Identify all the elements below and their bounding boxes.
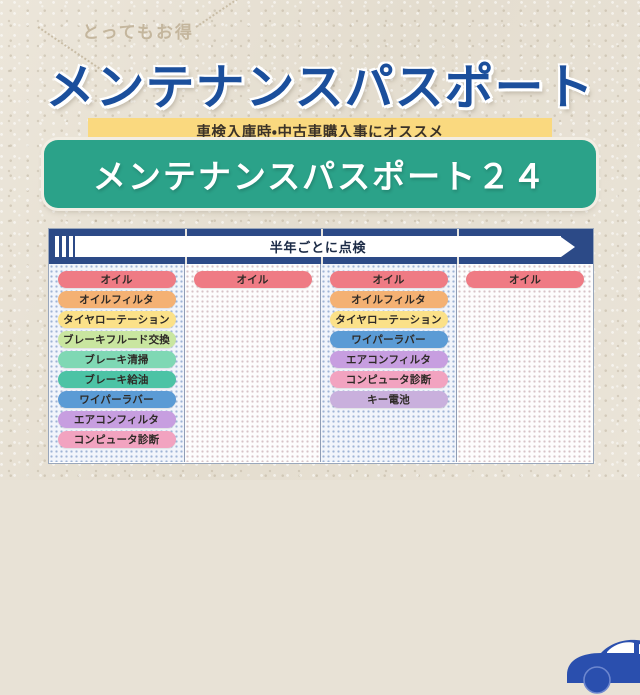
inspection-interval-label: 半年ごとに点検 (270, 237, 367, 256)
arrow-bar (55, 236, 59, 257)
plan-column-1: オイルオイルフィルタタイヤローテーションブレーキフルード交換ブレーキ清掃ブレーキ… (49, 264, 185, 462)
service-item-pill: オイルフィルタ (58, 291, 176, 308)
product-name-bar: メンテナンスパスポート２４ (44, 140, 596, 208)
service-item-pill: ワイパーラバー (330, 331, 448, 348)
service-item-pill: ブレーキフルード交換 (58, 331, 176, 348)
service-item-pill: オイル (330, 271, 448, 288)
service-item-pill: キー電池 (330, 391, 448, 408)
service-item-pill: タイヤローテーション (330, 311, 448, 328)
arrow-bar (62, 236, 66, 257)
arrow-right-icon (561, 237, 575, 257)
car-icon (561, 625, 640, 695)
service-item-pill: オイル (466, 271, 584, 288)
service-item-list: オイルオイルフィルタタイヤローテーションワイパーラバーエアコンフィルタコンピュー… (321, 271, 456, 408)
plan-column-2: オイル (185, 264, 321, 462)
service-item-pill: コンピュータ診断 (330, 371, 448, 388)
service-item-pill: オイル (194, 271, 312, 288)
service-item-pill: オイルフィルタ (330, 291, 448, 308)
service-item-list: オイル (457, 271, 593, 288)
arrow-bars-decoration (55, 236, 73, 257)
service-item-pill: ブレーキ清掃 (58, 351, 176, 368)
service-item-pill: ワイパーラバー (58, 391, 176, 408)
page-title: メンテナンスパスポート (0, 48, 640, 119)
service-item-pill: コンピュータ診断 (58, 431, 176, 448)
service-item-pill: エアコンフィルタ (330, 351, 448, 368)
arrow-body: 半年ごとに点検 (75, 236, 561, 257)
service-item-list: オイル (185, 271, 320, 288)
service-item-pill: タイヤローテーション (58, 311, 176, 328)
plan-comparison-table: 半年ごとに点検 オイルオイルフィルタタイヤローテーションブレーキフルード交換ブレ… (48, 228, 594, 464)
tagline-row: とってもお得 (0, 10, 640, 50)
table-header-band: 半年ごとに点検 (49, 229, 593, 264)
service-item-list: オイルオイルフィルタタイヤローテーションブレーキフルード交換ブレーキ清掃ブレーキ… (49, 271, 184, 448)
inspection-interval-banner: 半年ごとに点検 (55, 236, 575, 257)
table-body: オイルオイルフィルタタイヤローテーションブレーキフルード交換ブレーキ清掃ブレーキ… (49, 264, 593, 462)
plan-column-3: オイルオイルフィルタタイヤローテーションワイパーラバーエアコンフィルタコンピュー… (321, 264, 457, 462)
product-name-text: メンテナンスパスポート２４ (93, 150, 547, 198)
tagline-text: とってもお得 (0, 18, 276, 43)
plan-column-4: オイル (457, 264, 593, 462)
service-item-pill: オイル (58, 271, 176, 288)
arrow-bar (69, 236, 73, 257)
service-item-pill: ブレーキ給油 (58, 371, 176, 388)
service-item-pill: エアコンフィルタ (58, 411, 176, 428)
recommendation-text: 車検入庫時・中古車購入事にオススメ (196, 121, 443, 142)
